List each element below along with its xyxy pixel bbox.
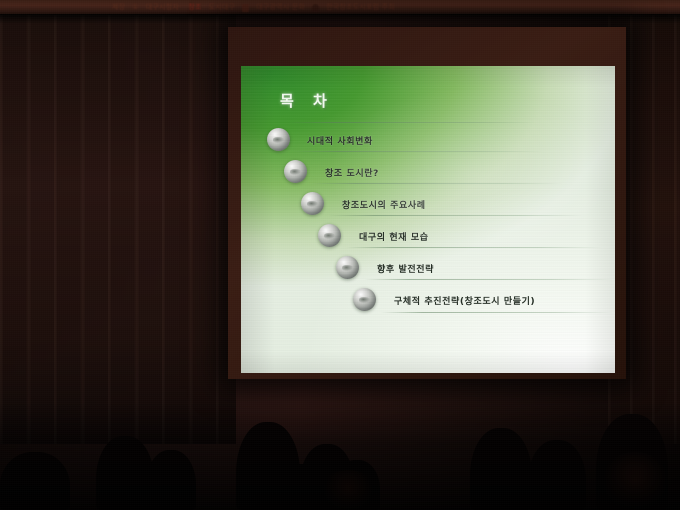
bullet-sphere-icon — [267, 128, 290, 151]
banner-item-0: 제장 — [112, 3, 125, 12]
list-item: 구체적 추진전략(창조도시 만들기) — [241, 282, 615, 314]
list-item: 향후 발전전략 — [241, 250, 615, 282]
list-item: 시대적 사회변화 — [241, 122, 615, 154]
banner-item-7: 한국창조도시포럼·주최 — [326, 3, 395, 12]
bullet-sphere-icon — [353, 288, 376, 311]
toc-rule — [293, 151, 543, 152]
page-title: 목 차 — [280, 90, 334, 111]
toc-item-label-3: 창조도시의 주요사례 — [342, 198, 426, 211]
top-banner-text-row: 제장 ① 대구시청자· 창조 도시대구 대구광역시·문화 한국창조도시포럼·주최 — [112, 1, 395, 14]
toc-item-label-6: 구체적 추진전략(창조도시 만들기) — [394, 294, 535, 307]
banner-item-6: 대구광역시·문화 — [256, 3, 305, 12]
banner-dot-icon — [312, 4, 319, 12]
toc-rule — [329, 215, 583, 216]
list-item: 창조 도시란? — [241, 154, 615, 186]
banner-item-1: ① — [132, 3, 138, 12]
toc-rule — [346, 247, 602, 248]
toc-rule — [364, 279, 614, 280]
toc-item-label-1: 시대적 사회변화 — [307, 134, 373, 147]
toc-item-label-5: 향후 발전전략 — [377, 262, 434, 275]
banner-item-2: 대구시청자· — [146, 3, 182, 12]
table-of-contents: 시대적 사회변화 창조 도시란? 창조도시의 주요사례 대구의 현재 모습 — [241, 122, 615, 314]
toc-rule — [381, 312, 613, 313]
screenshot-root: 제장 ① 대구시청자· 창조 도시대구 대구광역시·문화 한국창조도시포럼·주최… — [0, 0, 680, 510]
bullet-sphere-icon — [336, 256, 359, 279]
top-banner: 제장 ① 대구시청자· 창조 도시대구 대구광역시·문화 한국창조도시포럼·주최 — [0, 0, 680, 15]
bullet-sphere-icon — [284, 160, 307, 183]
bullet-sphere-icon — [318, 224, 341, 247]
left-curtain — [0, 14, 236, 444]
list-item: 대구의 현재 모습 — [241, 218, 615, 250]
toc-rule — [311, 183, 563, 184]
toc-item-label-2: 창조 도시란? — [325, 166, 379, 179]
toc-item-label-4: 대구의 현재 모습 — [359, 230, 429, 243]
projection-screen-surface: 목 차 시대적 사회변화 창조 도시란? 창조도시의 주요사례 대구 — [241, 66, 615, 373]
list-item: 창조도시의 주요사례 — [241, 186, 615, 218]
banner-shadow — [0, 14, 680, 24]
banner-item-4: 도시대구 — [209, 3, 236, 12]
bullet-sphere-icon — [301, 192, 324, 215]
banner-item-3: 창조 — [188, 3, 201, 12]
toc-rule — [287, 122, 535, 123]
banner-glyph-icon — [242, 4, 249, 12]
